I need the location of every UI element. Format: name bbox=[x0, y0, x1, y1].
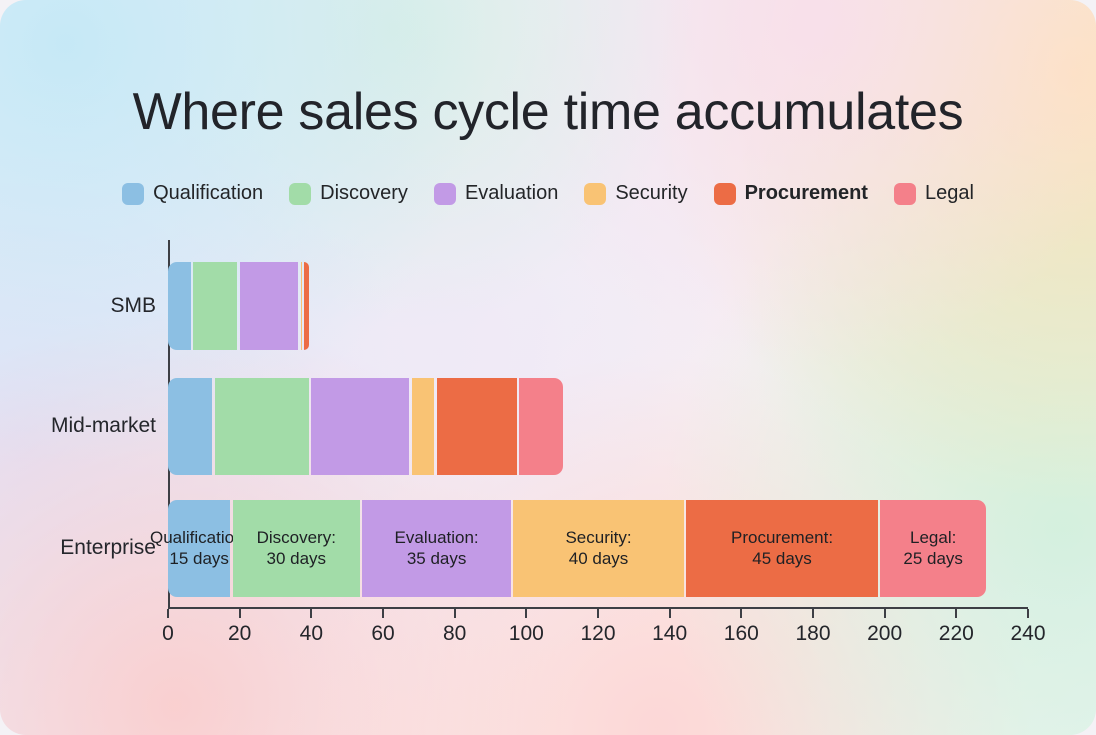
stacked-bar-smb bbox=[168, 262, 1028, 350]
bar-segment-discovery[interactable] bbox=[215, 378, 309, 475]
x-axis-tick bbox=[454, 609, 456, 618]
bar-segment-discovery[interactable]: Discovery: 30 days bbox=[233, 500, 360, 597]
bar-segment-qualification[interactable] bbox=[168, 378, 212, 475]
x-axis-tick-label: 160 bbox=[724, 622, 759, 646]
y-axis-category-label: Enterprise bbox=[60, 536, 156, 560]
bar-segment-qualification[interactable] bbox=[168, 262, 191, 350]
bar-segment-procurement[interactable] bbox=[304, 262, 309, 350]
bar-segment-legal[interactable]: Legal: 25 days bbox=[880, 500, 985, 597]
bar-segment-label: Evaluation: 35 days bbox=[395, 527, 479, 570]
x-axis-tick-label: 80 bbox=[443, 622, 466, 646]
bar-segment-security[interactable] bbox=[412, 378, 435, 475]
bar-segment-label: Security: 40 days bbox=[565, 527, 631, 570]
x-axis-tick bbox=[669, 609, 671, 618]
bar-segment-security[interactable] bbox=[301, 262, 303, 350]
x-axis-tick bbox=[812, 609, 814, 618]
stacked-bar-mid-market bbox=[168, 378, 1028, 475]
x-axis-tick bbox=[884, 609, 886, 618]
x-axis-tick bbox=[597, 609, 599, 618]
bar-segment-evaluation[interactable]: Evaluation: 35 days bbox=[362, 500, 511, 597]
bar-segment-qualification[interactable]: Qualification: 15 days bbox=[168, 500, 230, 597]
x-axis-tick-label: 140 bbox=[652, 622, 687, 646]
bar-segment-security[interactable]: Security: 40 days bbox=[513, 500, 683, 597]
y-axis-category-label: SMB bbox=[110, 294, 156, 318]
bar-segment-procurement[interactable]: Procurement: 45 days bbox=[686, 500, 878, 597]
x-axis-tick-label: 120 bbox=[580, 622, 615, 646]
x-axis-tick bbox=[955, 609, 957, 618]
x-axis-tick bbox=[740, 609, 742, 618]
x-axis-tick bbox=[310, 609, 312, 618]
x-axis-tick-label: 180 bbox=[795, 622, 830, 646]
bar-segment-label: Discovery: 30 days bbox=[257, 527, 336, 570]
y-axis-category-label: Mid-market bbox=[51, 414, 156, 438]
x-axis-tick bbox=[239, 609, 241, 618]
bar-segment-evaluation[interactable] bbox=[240, 262, 298, 350]
stacked-bar-enterprise: Qualification: 15 daysDiscovery: 30 days… bbox=[168, 500, 1028, 597]
x-axis-tick bbox=[382, 609, 384, 618]
bar-segment-legal[interactable] bbox=[519, 378, 563, 475]
bar-segment-discovery[interactable] bbox=[193, 262, 237, 350]
bar-segment-label: Legal: 25 days bbox=[903, 527, 963, 570]
bar-segment-label: Procurement: 45 days bbox=[731, 527, 833, 570]
x-axis-tick-label: 220 bbox=[939, 622, 974, 646]
x-axis-tick bbox=[1027, 609, 1029, 618]
bar-segment-procurement[interactable] bbox=[437, 378, 517, 475]
x-axis-tick-label: 40 bbox=[300, 622, 323, 646]
plot-area: 020406080100120140160180200220240SMBMid-… bbox=[0, 0, 1096, 735]
x-axis-tick bbox=[167, 609, 169, 618]
x-axis-tick bbox=[525, 609, 527, 618]
chart-canvas: Where sales cycle time accumulates Quali… bbox=[0, 0, 1096, 735]
x-axis-tick-label: 240 bbox=[1010, 622, 1045, 646]
bar-segment-evaluation[interactable] bbox=[311, 378, 409, 475]
x-axis-tick-label: 60 bbox=[371, 622, 394, 646]
x-axis-tick-label: 100 bbox=[509, 622, 544, 646]
x-axis-tick-label: 20 bbox=[228, 622, 251, 646]
x-axis-tick-label: 0 bbox=[162, 622, 174, 646]
x-axis-tick-label: 200 bbox=[867, 622, 902, 646]
